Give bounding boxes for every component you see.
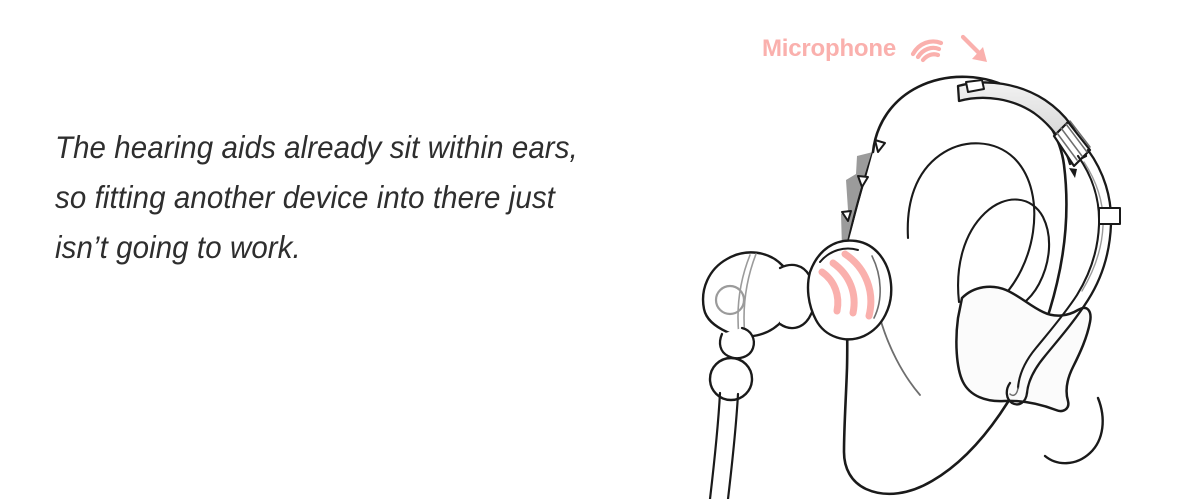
arrow-down-right-icon bbox=[958, 32, 992, 66]
caption-line-3: isn’t going to work. bbox=[55, 222, 635, 272]
earbud-cable-left bbox=[710, 393, 720, 499]
sound-waves-icon bbox=[905, 32, 949, 66]
caption-text-block: The hearing aids already sit within ears… bbox=[55, 122, 675, 272]
illustration-svg bbox=[670, 0, 1200, 499]
hearing-aid-tube-clip bbox=[1099, 208, 1120, 224]
earbud-cable-right bbox=[728, 394, 738, 499]
microphone-label: Microphone bbox=[762, 37, 896, 61]
slide-canvas: The hearing aids already sit within ears… bbox=[0, 0, 1200, 499]
ear-hearing-aid-illustration bbox=[670, 0, 1200, 499]
caption-line-2: so fitting another device into there jus… bbox=[55, 172, 635, 222]
earbud-strain-relief-bulb bbox=[710, 358, 752, 400]
microphone-callout: Microphone bbox=[762, 32, 992, 66]
hearing-aid-button bbox=[966, 80, 984, 92]
earbud-strain-relief bbox=[720, 328, 754, 358]
caption-line-1: The hearing aids already sit within ears… bbox=[55, 122, 635, 172]
hearing-aid-hook-nub bbox=[1069, 168, 1077, 178]
